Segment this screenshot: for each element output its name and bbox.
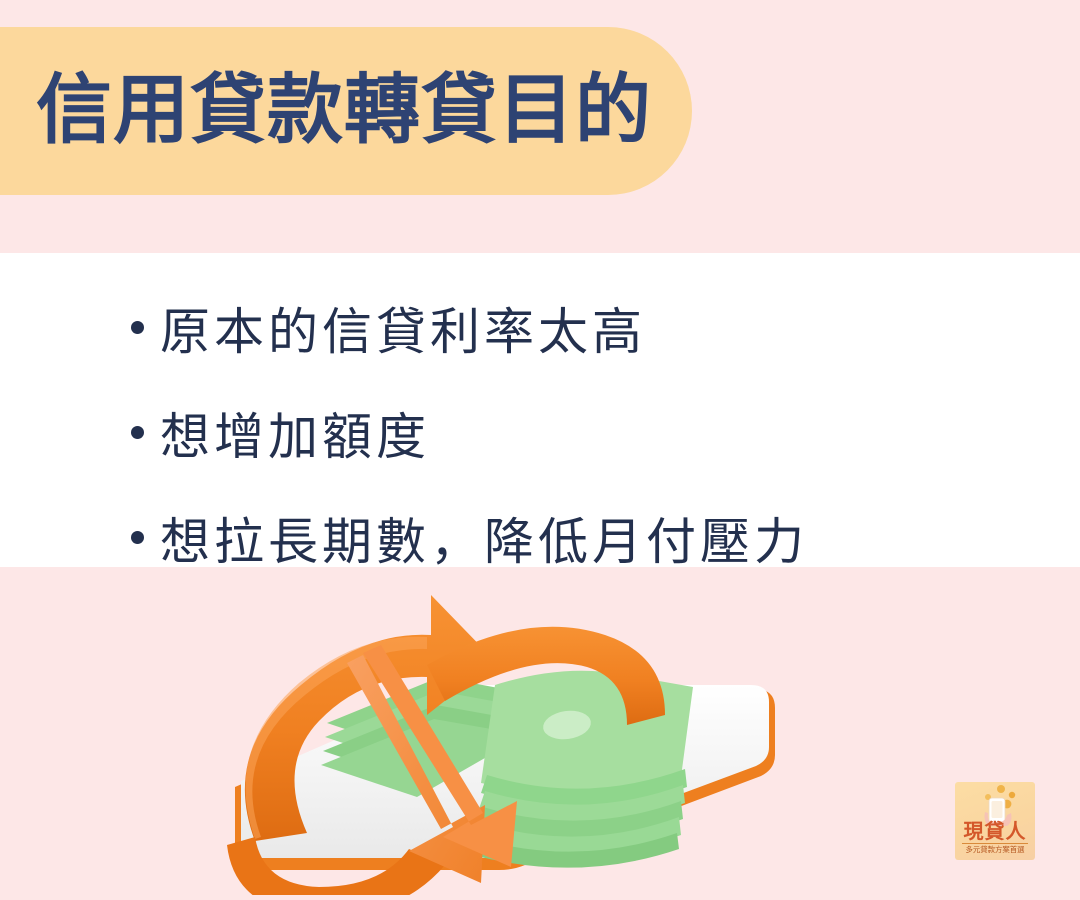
list-item: 想增加額度 (0, 380, 1080, 485)
list-item: 原本的信貸利率太高 (0, 275, 1080, 380)
page-title: 信用貸款轉貸目的 (36, 73, 652, 149)
bullet-dot-icon (131, 426, 144, 439)
list-item-label: 原本的信貸利率太高 (160, 292, 646, 364)
refinance-money-illustration (195, 565, 815, 895)
bullet-dot-icon (131, 531, 144, 544)
logo-name: 現貸人 (955, 822, 1035, 842)
list-item-label: 想拉長期數，降低月付壓力 (160, 502, 808, 574)
bullet-dot-icon (131, 321, 144, 334)
logo-tagline: 多元貸款方案首選 (958, 844, 1032, 855)
title-banner: 信用貸款轉貸目的 (0, 27, 692, 195)
slide-root: 信用貸款轉貸目的 原本的信貸利率太高 想增加額度 想拉長期數，降低月付壓力 (0, 0, 1080, 900)
bullet-list: 原本的信貸利率太高 想增加額度 想拉長期數，降低月付壓力 (0, 253, 1080, 567)
list-item-label: 想增加額度 (160, 397, 430, 469)
brand-logo: 現貸人 多元貸款方案首選 (955, 782, 1035, 860)
